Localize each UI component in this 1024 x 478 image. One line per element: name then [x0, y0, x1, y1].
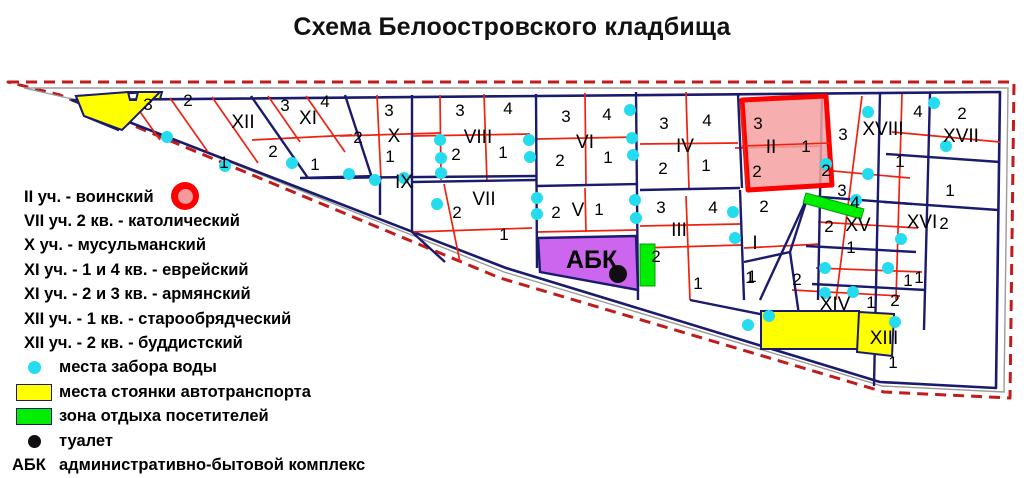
sector-label-XIV: XIV [820, 294, 851, 315]
rest-zone-swatch [16, 408, 52, 425]
quarter-label: 3 [753, 114, 762, 133]
quarter-label: 3 [838, 125, 847, 144]
quarter-label: 4 [702, 111, 711, 130]
quarter-label: 1 [594, 200, 603, 219]
quarter-label: 2 [555, 151, 564, 170]
water-point-marker [819, 262, 831, 274]
quarter-label: 4 [503, 99, 512, 118]
quarter-label: 1 [385, 147, 394, 166]
legend-row: зона отдыха посетителей [12, 405, 432, 429]
quarter-label: 1 [888, 353, 897, 372]
legend-swatch-cell [12, 435, 56, 448]
legend-row: XI уч. - 2 и 3 кв. - армянский [12, 283, 432, 307]
water-point-marker [161, 131, 173, 143]
quarter-label: 3 [837, 181, 846, 200]
legend-swatch-cell [12, 361, 56, 374]
quarter-label: 4 [850, 193, 859, 212]
quarter-label: 1 [846, 238, 855, 257]
quarter-label: 1 [693, 274, 702, 293]
sector-label-I: I [752, 233, 757, 254]
quarter-label: 3 [659, 114, 668, 133]
quarter-label: 3 [384, 101, 393, 120]
quarter-label: 2 [183, 91, 192, 110]
legend-row: II уч. - воинский [12, 185, 432, 209]
quarter-label: 2 [821, 161, 830, 180]
sector-label-XVIII: XVIII [862, 119, 903, 140]
quarter-label: 3 [143, 95, 152, 114]
water-point-marker [882, 262, 894, 274]
quarter-label: 4 [913, 102, 922, 121]
water-point-marker [286, 157, 298, 169]
military-ring-inner [178, 189, 193, 204]
quarter-label: 1 [945, 181, 954, 200]
water-point-marker [763, 310, 775, 322]
water-point-marker [630, 212, 642, 224]
quarter-label: 2 [759, 197, 768, 216]
quarter-label: 4 [602, 105, 611, 124]
quarter-label: 1 [219, 153, 228, 172]
legend-label: X уч. - мусульманский [12, 236, 206, 255]
sector-label-XIII: XIII [870, 328, 899, 349]
water-point-marker [343, 168, 355, 180]
water-point-marker [627, 149, 639, 161]
legend: II уч. - воинскийVII уч. 2 кв. - католич… [12, 185, 432, 478]
water-point-marker [434, 134, 446, 146]
legend-label: туалет [56, 432, 113, 451]
water-point-marker [626, 132, 638, 144]
sector-label-VI: VI [576, 132, 594, 153]
legend-label: места забора воды [56, 358, 217, 377]
sector-label-XVII: XVII [943, 126, 979, 147]
quarter-label: 2 [939, 214, 948, 233]
water-point-marker [928, 97, 940, 109]
legend-row: АБКадминистративно-бытовой комплекс [12, 453, 432, 477]
water-point-marker [624, 104, 636, 116]
quarter-label: 1 [895, 152, 904, 171]
quarter-label: 1 [903, 271, 912, 290]
legend-row: VII уч. 2 кв. - католический [12, 209, 432, 233]
quarter-label: 1 [603, 148, 612, 167]
water-point-marker [431, 198, 443, 210]
water-point-marker [742, 319, 754, 331]
legend-row: туалет [12, 429, 432, 453]
legend-row: XI уч. - 1 и 4 кв. - еврейский [12, 258, 432, 282]
abk-abbrev-label: АБК [12, 456, 56, 475]
quarter-label: 2 [353, 128, 362, 147]
abk-label: АБК [566, 246, 618, 274]
sector-label-XV: XV [845, 215, 871, 236]
water-point-marker [629, 194, 641, 206]
water-point-marker [435, 152, 447, 164]
sector-label-II: II [766, 137, 777, 158]
quarter-label: 2 [551, 203, 560, 222]
legend-label: VII уч. 2 кв. - католический [12, 212, 240, 231]
sector-label-VII: VII [472, 189, 495, 210]
sector-label-X: X [388, 126, 401, 147]
quarter-label: 1 [498, 143, 507, 162]
water-point-marker [729, 232, 741, 244]
legend-row: XII уч. - 1 кв. - старообрядческий [12, 307, 432, 331]
water-point-marker [895, 233, 907, 245]
quarter-label: 4 [708, 198, 717, 217]
legend-label: XI уч. - 2 и 3 кв. - армянский [12, 285, 251, 304]
legend-row: места стоянки автотранспорта [12, 380, 432, 404]
sector-label-XVI: XVI [907, 212, 938, 233]
water-point-marker [531, 208, 543, 220]
sector-label-VIII: VIII [464, 127, 493, 148]
quarter-label: 2 [824, 217, 833, 236]
water-point-marker [727, 206, 739, 218]
quarter-label: 2 [451, 145, 460, 164]
legend-label: XI уч. - 1 и 4 кв. - еврейский [12, 261, 249, 280]
quarter-label: 1 [801, 137, 810, 156]
quarter-label: 2 [792, 270, 801, 289]
quarter-label: 2 [658, 159, 667, 178]
water-point-marker [524, 151, 536, 163]
water-point-marker [889, 316, 901, 328]
quarter-label: 2 [452, 203, 461, 222]
quarter-label: 2 [651, 247, 660, 266]
quarter-label: 3 [656, 198, 665, 217]
sector-label-IV: IV [676, 136, 694, 157]
quarter-label: 3 [280, 96, 289, 115]
quarter-label: 1 [310, 155, 319, 174]
water-point-marker [435, 167, 447, 179]
legend-swatch-cell [12, 408, 56, 425]
parking-swatch [16, 384, 52, 401]
legend-label: XII уч. - 2 кв. - буддистский [12, 334, 243, 353]
sector-label-V: V [572, 200, 585, 221]
quarter-label: 2 [957, 104, 966, 123]
legend-label: II уч. - воинский [12, 188, 154, 207]
quarter-label: 2 [268, 142, 277, 161]
water-point-marker [862, 168, 874, 180]
legend-row: места забора воды [12, 356, 432, 380]
quarter-label: 2 [890, 291, 899, 310]
quarter-label: 2 [752, 162, 761, 181]
water-point-marker [862, 106, 874, 118]
legend-label: XII уч. - 1 кв. - старообрядческий [12, 310, 291, 329]
quarter-label: 1 [745, 268, 754, 287]
water-point-swatch [28, 361, 41, 374]
legend-label: административно-бытовой комплекс [56, 456, 365, 475]
quarter-label: 3 [455, 101, 464, 120]
military-ring-marker [171, 182, 199, 210]
parking-bottom-1 [761, 311, 859, 349]
sector-label-III: III [671, 220, 687, 241]
quarter-label: 1 [499, 225, 508, 244]
quarter-label: 4 [320, 92, 329, 111]
legend-row: XII уч. - 2 кв. - буддистский [12, 331, 432, 355]
quarter-label: 1 [701, 156, 710, 175]
water-point-marker [523, 134, 535, 146]
legend-label: зона отдыха посетителей [56, 407, 269, 426]
toilet-swatch [28, 435, 41, 448]
quarter-label: 3 [561, 107, 570, 126]
quarter-label: 1 [914, 268, 923, 287]
water-point-marker [531, 192, 543, 204]
legend-swatch-cell [12, 384, 56, 401]
legend-label: места стоянки автотранспорта [56, 383, 311, 402]
legend-row: X уч. - мусульманский [12, 234, 432, 258]
sector-label-XI: XI [299, 108, 317, 129]
quarter-label: 1 [866, 293, 875, 312]
sector-label-XII: XII [231, 112, 254, 133]
